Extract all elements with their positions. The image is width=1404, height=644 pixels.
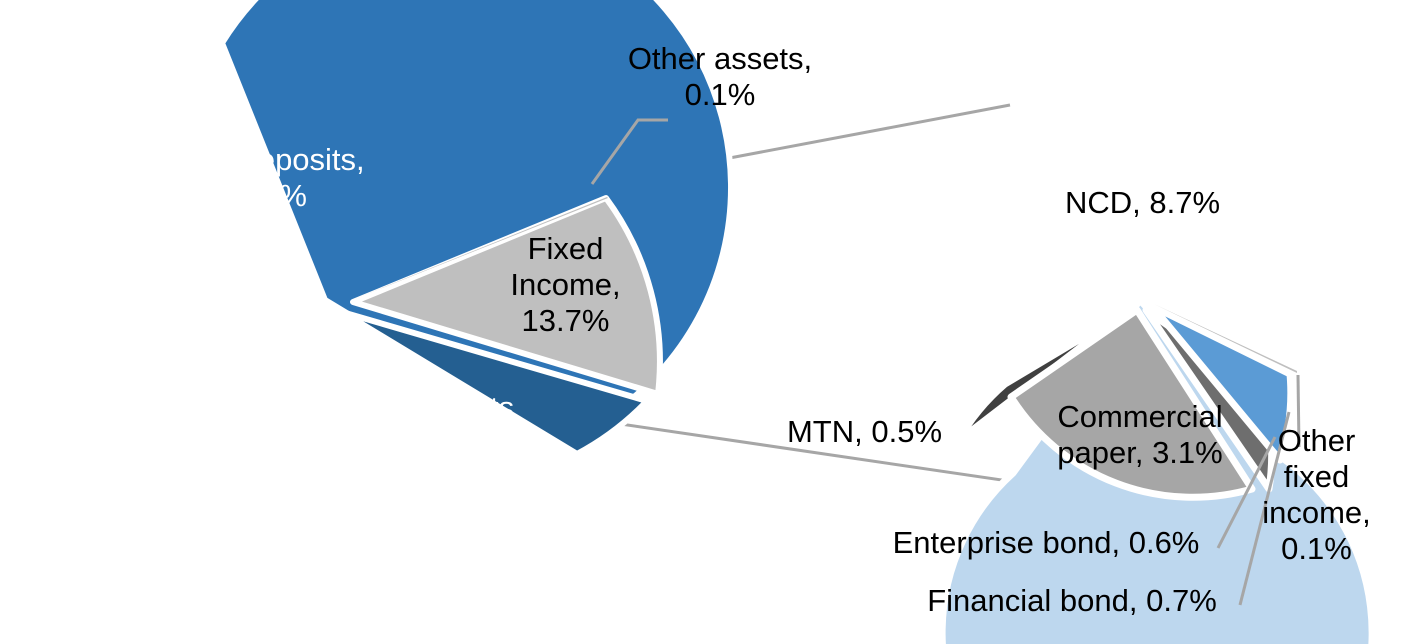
pie-of-pie-chart: Bank deposits, 60.3% Other assets, 0.1% … [0,0,1404,644]
label-ncd: NCD, 8.7% [1035,185,1250,221]
label-repo: Financial assets held under repo agreeme… [258,390,548,534]
label-mtn: MTN, 0.5% [762,414,967,450]
label-commercial-paper: Commercial paper, 3.1% [1040,399,1240,471]
label-bank-deposits: Bank deposits, 60.3% [118,142,408,214]
label-fixed-income: Fixed Income, 13.7% [478,231,653,339]
label-enterprise-bond: Enterprise bond, 0.6% [866,525,1226,561]
label-other-fixed-income: Other fixed income, 0.1% [1254,423,1379,567]
label-financial-bond: Financial bond, 0.7% [898,583,1246,619]
label-other-assets: Other assets, 0.1% [600,41,840,113]
